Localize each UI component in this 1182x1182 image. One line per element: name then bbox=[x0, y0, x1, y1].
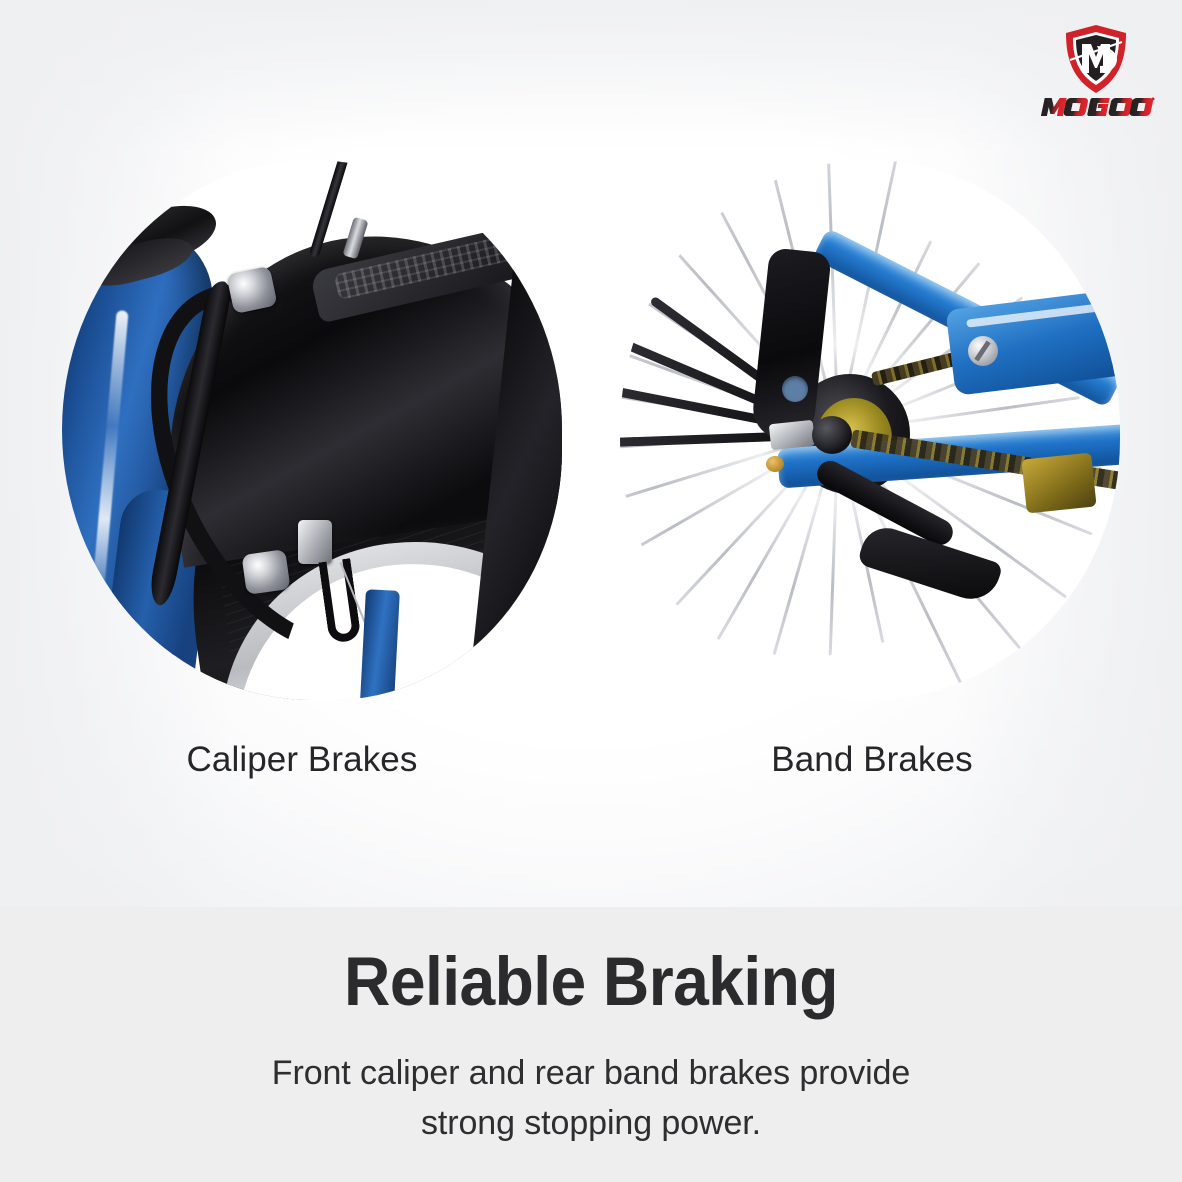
fender-mount-bolt bbox=[241, 549, 290, 595]
subtext-line-1: Front caliper and rear band brakes provi… bbox=[272, 1054, 910, 1092]
brake-pad-clamp bbox=[298, 520, 332, 564]
blue-down-tube bbox=[358, 589, 400, 700]
headline: Reliable Braking bbox=[41, 942, 1140, 1021]
axle-washer bbox=[769, 420, 815, 450]
caliper-brake-scene bbox=[62, 160, 562, 700]
brass-fitting bbox=[766, 456, 784, 472]
caption-caliper-brakes: Caliper Brakes bbox=[42, 740, 562, 780]
caliper-photo-mask bbox=[62, 160, 562, 700]
band-photo-mask bbox=[620, 160, 1120, 700]
product-feature-card: Caliper Brakes Band Brakes Reliable Brak… bbox=[0, 0, 1182, 1182]
brake-lever-hole bbox=[782, 376, 808, 402]
subtext-line-2: strong stopping power. bbox=[421, 1104, 761, 1142]
hero-top-vignette bbox=[0, 0, 1182, 150]
chain-guard-screw bbox=[968, 336, 998, 366]
chain-tensioner bbox=[1021, 452, 1096, 513]
brake-photo-gallery bbox=[0, 160, 1182, 720]
band-brake-photo bbox=[620, 160, 1120, 700]
message-band: Reliable Braking Front caliper and rear … bbox=[0, 907, 1182, 1182]
photo-captions: Caliper Brakes Band Brakes bbox=[0, 740, 1182, 810]
mogoo-logo bbox=[1036, 24, 1156, 124]
subtext: Front caliper and rear band brakes provi… bbox=[0, 1048, 1182, 1148]
mogoo-wordmark bbox=[1036, 92, 1156, 122]
caliper-brake-photo bbox=[62, 160, 562, 700]
band-brake-scene bbox=[620, 160, 1120, 700]
shield-monogram-icon bbox=[1064, 24, 1128, 94]
axle-nut bbox=[812, 416, 852, 454]
caption-band-brakes: Band Brakes bbox=[612, 740, 1132, 780]
